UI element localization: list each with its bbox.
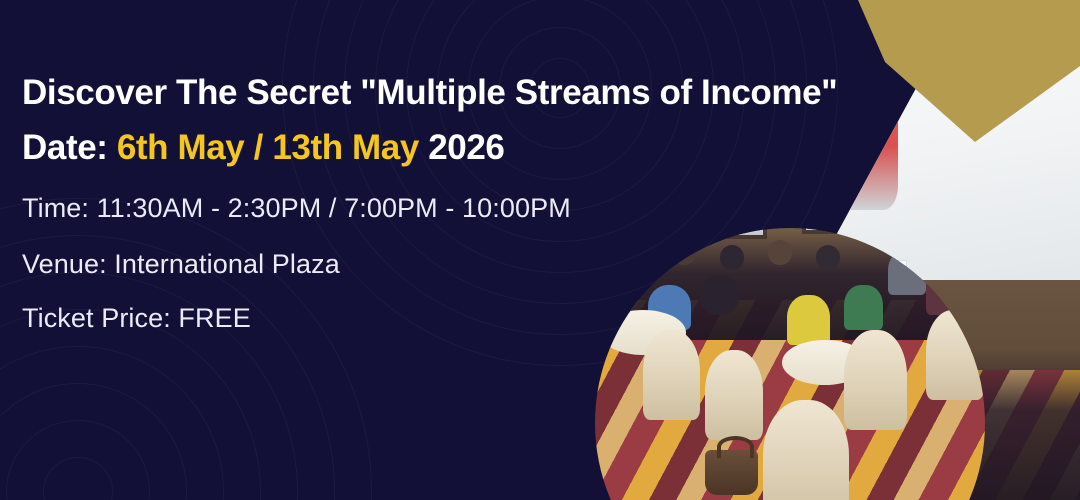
event-ticket-price: Ticket Price: FREE (22, 303, 251, 334)
banquet-chair (705, 350, 763, 440)
audience-head (768, 240, 792, 265)
banquet-chair (844, 330, 906, 430)
date-value: 6th May / 13th May (117, 128, 419, 167)
audience-person-checked (888, 250, 926, 295)
hall-scene (595, 228, 985, 500)
audience-head (672, 240, 696, 265)
ring (0, 309, 261, 500)
event-venue: Venue: International Plaza (22, 249, 340, 280)
banquet-chair (643, 330, 701, 420)
handbag (705, 450, 758, 495)
audience-head (720, 245, 744, 270)
ring (0, 383, 187, 500)
page-title: Discover The Secret "Multiple Streams of… (22, 73, 837, 113)
conference-hall-photo (595, 228, 985, 500)
ring (0, 346, 224, 500)
event-date-line: Date: 6th May / 13th May 2026 (22, 128, 505, 168)
event-promo-banner: Discover The Secret "Multiple Streams of… (0, 0, 1080, 500)
date-year: 2026 (419, 128, 505, 167)
audience-head (816, 245, 840, 270)
ring (6, 420, 150, 500)
date-label: Date: (22, 128, 117, 167)
audience-person-green (844, 285, 882, 330)
audience-person-yellow (787, 295, 830, 345)
ring (0, 198, 372, 500)
banquet-chair (763, 400, 849, 500)
screen-projected-person (792, 40, 898, 210)
event-time: Time: 11:30AM - 2:30PM / 7:00PM - 10:00P… (22, 193, 571, 224)
audience-head (628, 245, 652, 270)
audience-person-maroon (926, 260, 969, 315)
audience-head (700, 275, 738, 315)
ring (43, 457, 113, 500)
